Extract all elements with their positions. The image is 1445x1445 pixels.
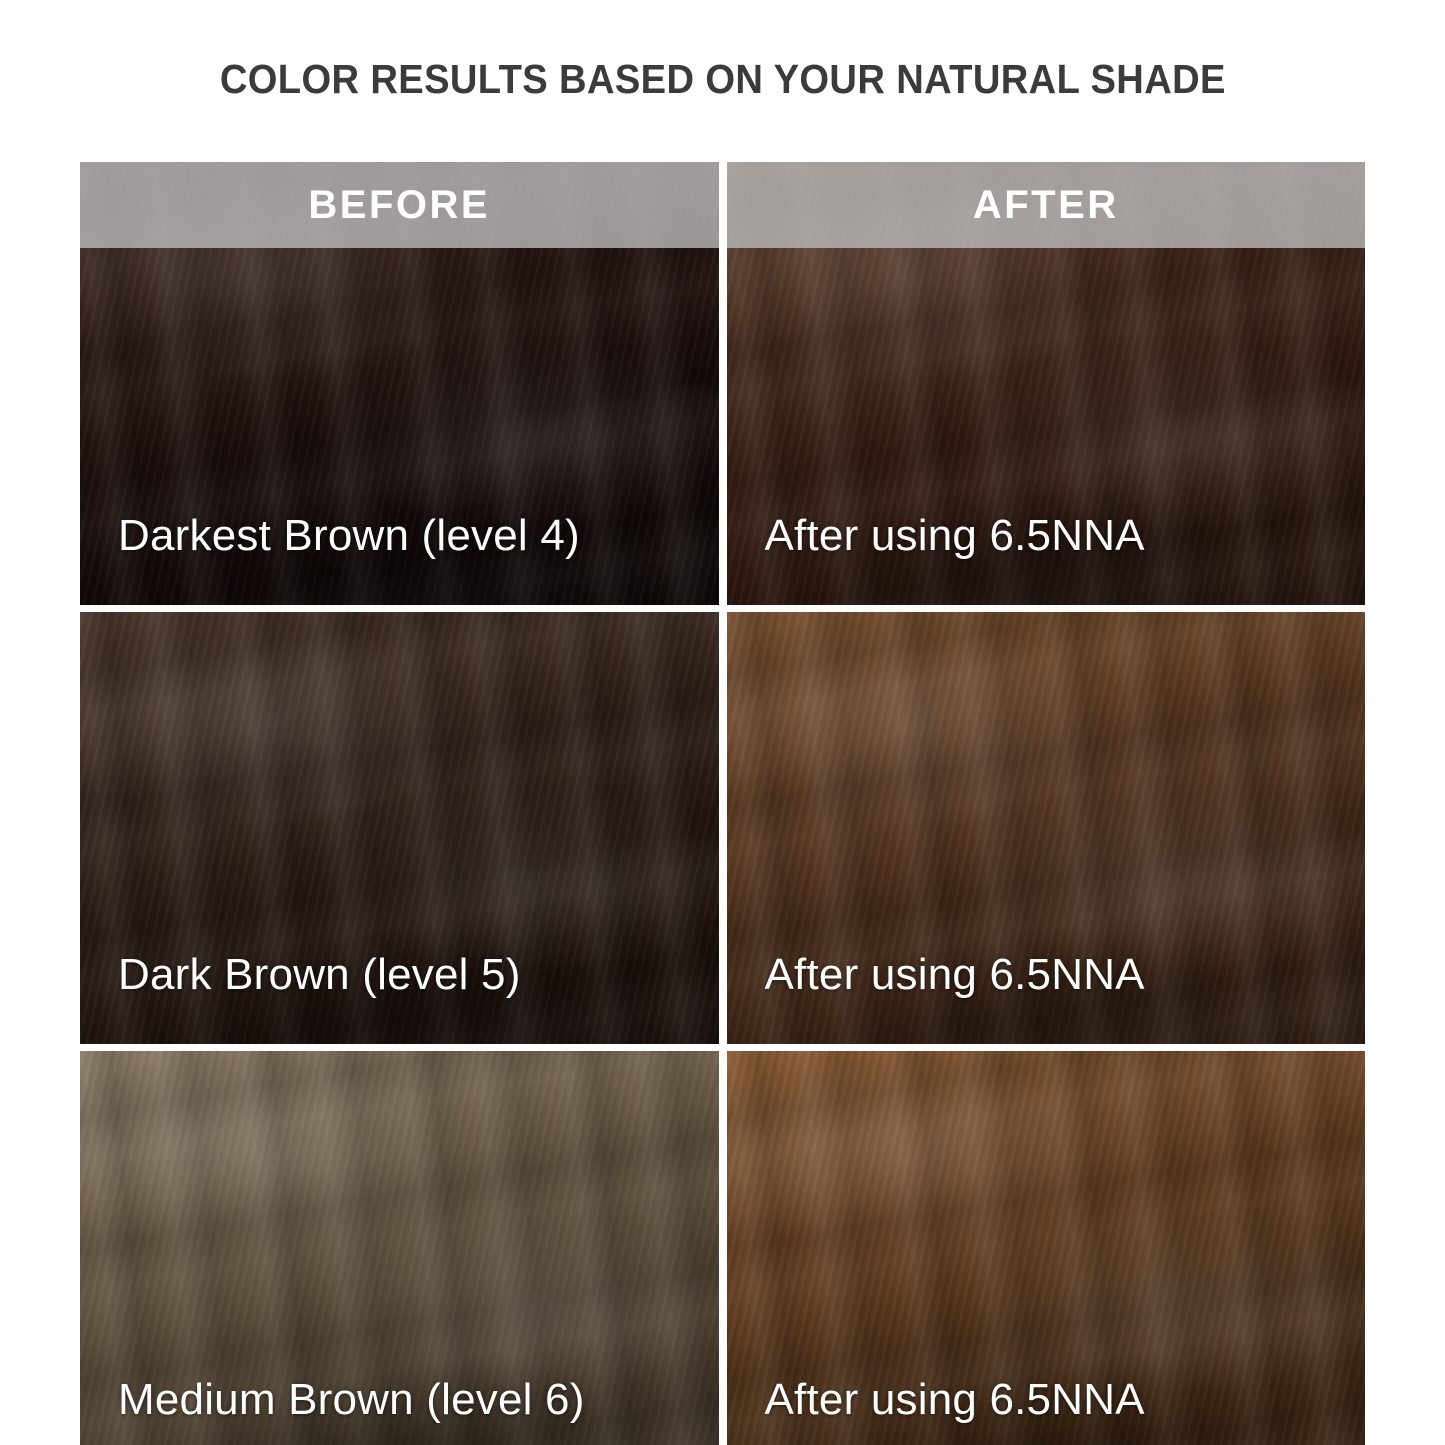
color-results-page: COLOR RESULTS BASED ON YOUR NATURAL SHAD… [0, 0, 1445, 1445]
column-header-before: BEFORE [80, 162, 719, 248]
cell-before-level-6: Medium Brown (level 6) [80, 1051, 719, 1445]
caption-after-level-4: After using 6.5NNA [765, 511, 1145, 561]
cell-after-level-4: AFTER After using 6.5NNA [727, 162, 1366, 605]
caption-after-level-6: After using 6.5NNA [765, 1375, 1145, 1425]
column-header-after-label: AFTER [973, 183, 1119, 228]
caption-before-level-5: Dark Brown (level 5) [118, 950, 521, 1000]
cell-after-level-5: After using 6.5NNA [727, 612, 1366, 1044]
column-header-before-label: BEFORE [308, 183, 490, 228]
cell-before-level-4: BEFORE Darkest Brown (level 4) [80, 162, 719, 605]
before-after-grid: BEFORE Darkest Brown (level 4) AFTER Aft… [80, 162, 1365, 1445]
column-header-after: AFTER [727, 162, 1366, 248]
caption-before-level-6: Medium Brown (level 6) [118, 1375, 585, 1425]
caption-before-level-4: Darkest Brown (level 4) [118, 511, 580, 561]
page-title: COLOR RESULTS BASED ON YOUR NATURAL SHAD… [220, 56, 1226, 103]
caption-after-level-5: After using 6.5NNA [765, 950, 1145, 1000]
cell-after-level-6: After using 6.5NNA [727, 1051, 1366, 1445]
cell-before-level-5: Dark Brown (level 5) [80, 612, 719, 1044]
page-title-container: COLOR RESULTS BASED ON YOUR NATURAL SHAD… [0, 56, 1445, 103]
